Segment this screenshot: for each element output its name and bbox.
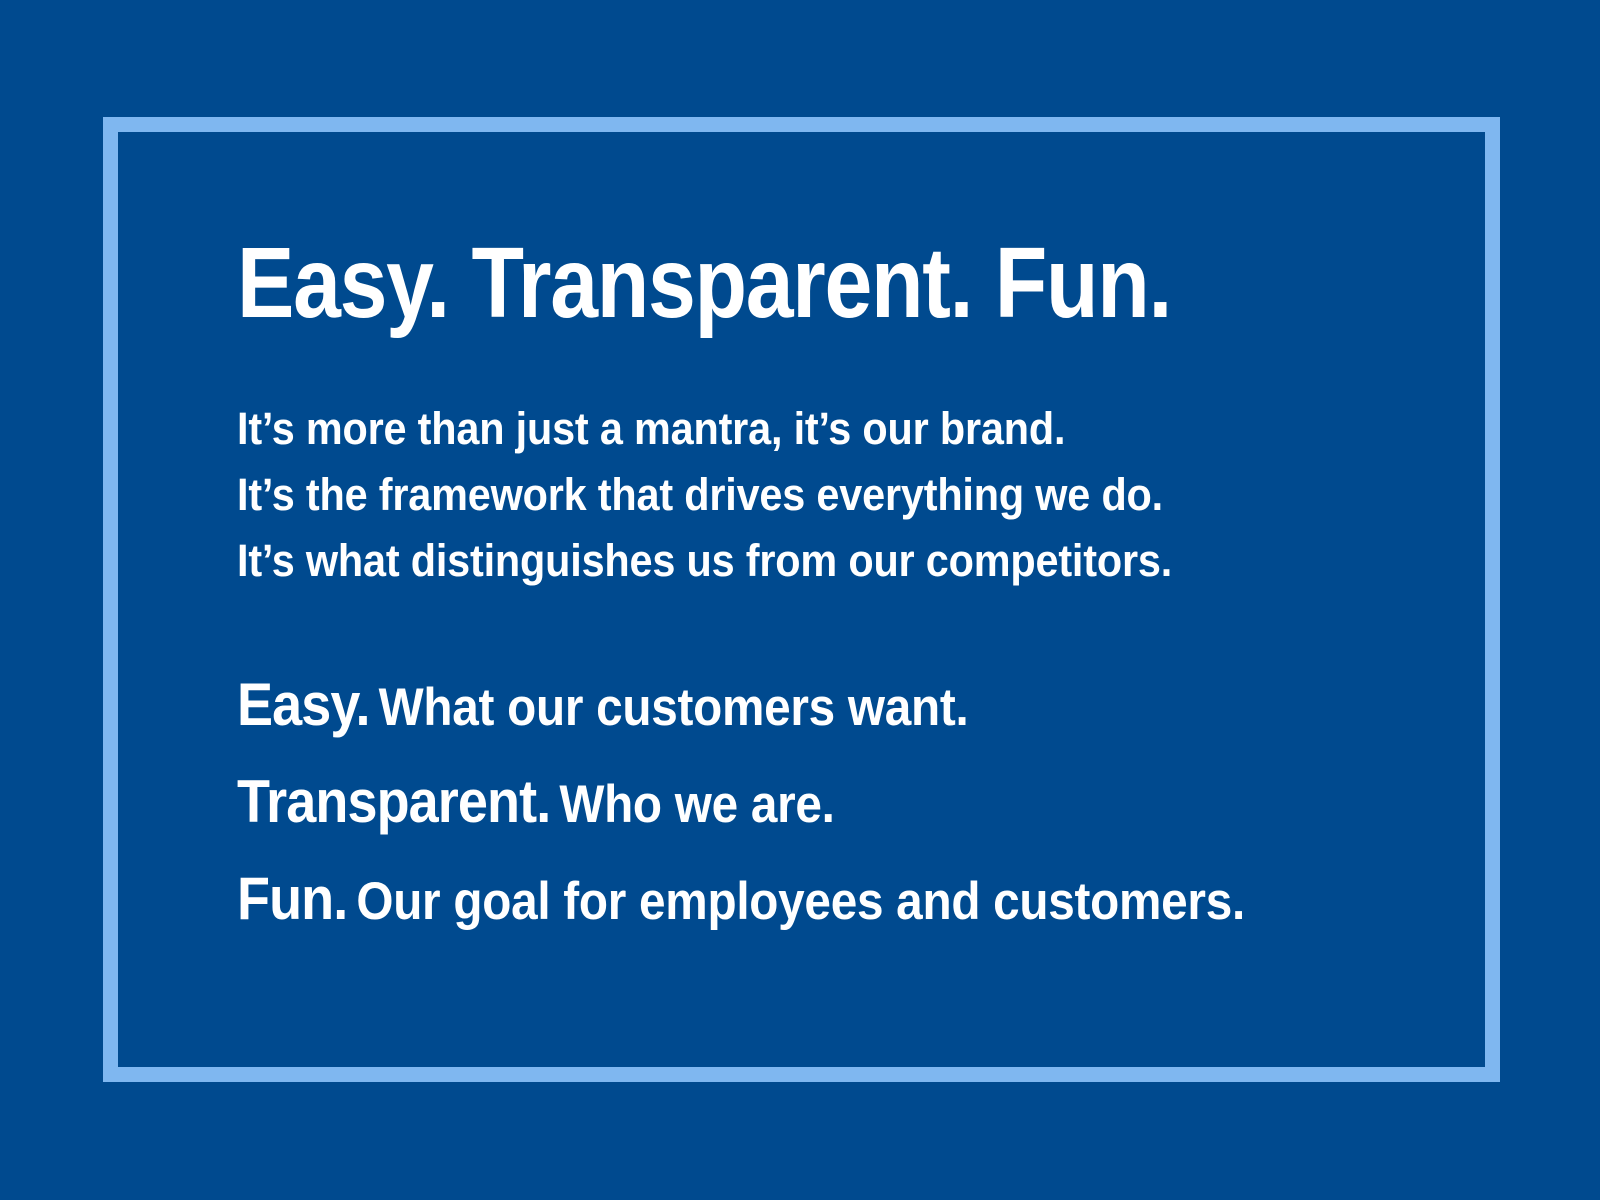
slide-canvas: Easy. Transparent. Fun. It’s more than j… — [0, 0, 1600, 1200]
definition-description: Our goal for employees and customers. — [347, 872, 1245, 931]
intro-paragraph: It’s more than just a mantra, it’s our b… — [237, 334, 1417, 594]
definition-term: Easy. — [237, 671, 370, 738]
intro-paragraph-line: It’s the framework that drives everythin… — [237, 462, 1323, 528]
slide-content: Easy. Transparent. Fun. It’s more than j… — [237, 232, 1417, 955]
definition-term: Transparent. — [237, 768, 550, 835]
definition-list: Easy.What our customers want. Transparen… — [237, 594, 1417, 955]
intro-paragraph-line: It’s more than just a mantra, it’s our b… — [237, 396, 1323, 462]
definition-description: What our customers want. — [370, 678, 969, 737]
definition-description: Who we are. — [550, 775, 834, 834]
definition-term: Fun. — [237, 865, 347, 932]
definition-item: Fun.Our goal for employees and customers… — [237, 858, 1299, 955]
intro-paragraph-line: It’s what distinguishes us from our comp… — [237, 528, 1323, 594]
definition-item: Easy.What our customers want. — [237, 664, 1299, 761]
page-title: Easy. Transparent. Fun. — [237, 232, 1252, 334]
definition-item: Transparent.Who we are. — [237, 761, 1299, 858]
